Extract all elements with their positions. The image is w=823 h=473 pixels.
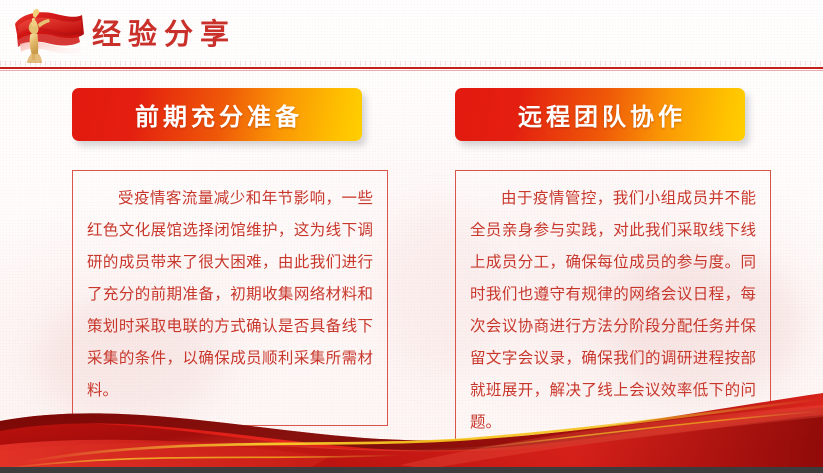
text-panel-collaboration: 由于疫情管控，我们小组成员并不能全员亲身参与实践，对此我们采取线下线上成员分工，… <box>455 170 771 440</box>
body-paragraph: 由于疫情管控，我们小组成员并不能全员亲身参与实践，对此我们采取线下线上成员分工，… <box>470 183 756 439</box>
section-banner-collaboration[interactable]: 远程团队协作 <box>455 88 745 141</box>
section-banner-label: 远程团队协作 <box>514 97 686 132</box>
header-divider-thin <box>0 70 823 71</box>
text-panel-preparation: 受疫情客流量减少和年节影响，一些红色文化展馆选择闭馆维护，这为线下调研的成员带来… <box>72 170 388 426</box>
section-banner-label: 前期充分准备 <box>131 97 303 132</box>
page-title: 经验分享 <box>92 15 236 55</box>
content-column-left: 前期充分准备 受疫情客流量减少和年节影响，一些红色文化展馆选择闭馆维护，这为线下… <box>72 88 400 426</box>
header-divider <box>0 67 823 69</box>
red-flag-with-torch-figure-icon <box>8 6 90 64</box>
slide-header: 经验分享 <box>0 0 823 70</box>
content-column-right: 远程团队协作 由于疫情管控，我们小组成员并不能全员亲身参与实践，对此我们采取线下… <box>455 88 783 440</box>
body-paragraph: 受疫情客流量减少和年节影响，一些红色文化展馆选择闭馆维护，这为线下调研的成员带来… <box>87 183 373 407</box>
section-banner-preparation[interactable]: 前期充分准备 <box>72 88 362 141</box>
header-dot-texture <box>0 61 823 66</box>
slide: 经验分享 前期充分准备 受疫情客流量减少和年节影响，一些红色文化展馆选择闭馆维护… <box>0 0 823 473</box>
